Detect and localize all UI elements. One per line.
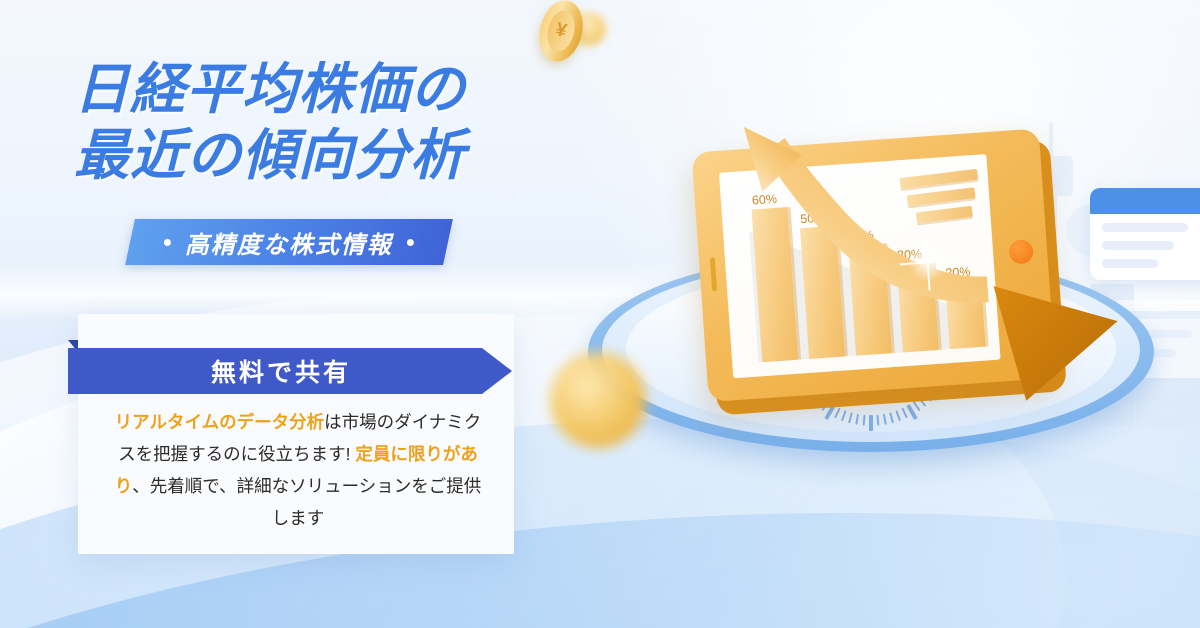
- dial-tick: [895, 410, 901, 421]
- info-card-body: リアルタイムのデータ分析は市場のダイナミクスを把握するのに役立ちます! 定員に限…: [112, 406, 484, 534]
- ribbon-label: 無料で共有: [211, 353, 369, 389]
- hero-banner: 日経平均株価の 最近の傾向分析 高精度な株式情報 無料で共有 リアルタイムのデー…: [0, 0, 1200, 628]
- bullet-dot-icon: [407, 239, 414, 246]
- tablet-device: 60%50%40%30%20%: [691, 128, 1062, 410]
- coin-blurred-left: [550, 352, 646, 448]
- dial-tick: [883, 414, 887, 425]
- page-title: 日経平均株価の 最近の傾向分析: [74, 56, 594, 188]
- subtitle-badge-label: 高精度な株式情報: [185, 225, 393, 260]
- info-card: 無料で共有 リアルタイムのデータ分析は市場のダイナミクスを把握するのに役立ちます…: [78, 314, 514, 554]
- dial-tick: [834, 408, 840, 419]
- coin-face: ¥: [543, 7, 578, 54]
- hero-illustration: 60%50%40%30%20%: [540, 0, 1200, 628]
- title-line-2: 最近の傾向分析: [74, 122, 594, 188]
- coin-yen-right: ¥: [533, 0, 589, 66]
- dial-tick: [901, 408, 907, 419]
- dial-tick: [848, 412, 853, 423]
- bullet-dot-icon: [164, 239, 171, 246]
- upward-trend-arrow-icon: [698, 79, 1013, 329]
- body-segment-highlight: リアルタイムのデータ分析: [115, 412, 324, 432]
- dial-tick: [841, 410, 847, 421]
- dial-tick: [855, 414, 859, 425]
- currency-symbol-icon: ¥: [543, 7, 578, 54]
- title-line-1: 日経平均株価の: [74, 56, 594, 122]
- dial-tick: [863, 415, 866, 426]
- dial-tick: [876, 415, 879, 426]
- tablet-home-button[interactable]: [1008, 239, 1034, 265]
- dial-tick: [889, 412, 894, 423]
- ribbon-banner: 無料で共有: [68, 340, 512, 390]
- subtitle-badge: 高精度な株式情報: [125, 219, 453, 265]
- body-segment: 、先着順で、詳細なソリューションをご提供します: [132, 476, 481, 528]
- ribbon-arrow[interactable]: 無料で共有: [68, 348, 512, 394]
- dial-tick: [869, 415, 873, 431]
- dial-tick: [913, 401, 921, 411]
- sparkle-icon: [904, 239, 951, 286]
